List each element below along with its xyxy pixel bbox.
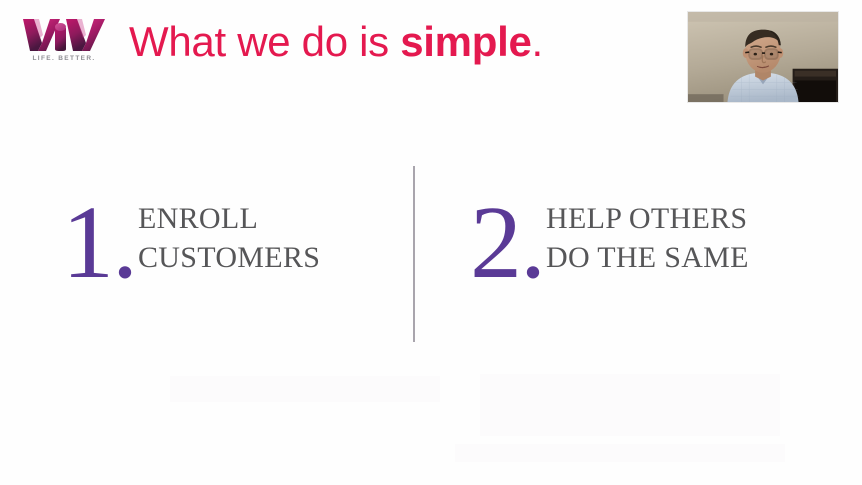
presenter-webcam-tile[interactable]	[687, 11, 839, 103]
step-item-1: 1. ENROLL CUSTOMERS	[62, 198, 320, 279]
headline-period: .	[532, 18, 543, 65]
step-1-number: 1.	[62, 202, 136, 283]
presentation-slide: LIFE. BETTER. What we do is simple.	[0, 0, 862, 485]
step-2-line-1: HELP OTHERS	[546, 200, 749, 238]
step-2-label: HELP OTHERS DO THE SAME	[546, 200, 749, 277]
step-1-line-2: CUSTOMERS	[138, 239, 320, 277]
step-1-line-1: ENROLL	[138, 200, 320, 238]
viv-wordmark-icon	[21, 16, 107, 54]
step-item-2: 2. HELP OTHERS DO THE SAME	[470, 198, 749, 279]
step-2-line-2: DO THE SAME	[546, 239, 749, 277]
compression-ghosting	[0, 372, 862, 485]
headline-bold-part: simple	[400, 18, 531, 65]
headline-normal-part: What we do is	[129, 18, 400, 65]
column-divider	[413, 166, 415, 342]
step-1-label: ENROLL CUSTOMERS	[138, 200, 320, 277]
webcam-video-frame	[688, 12, 838, 102]
viv-brand-logo: LIFE. BETTER.	[18, 16, 110, 74]
logo-tagline: LIFE. BETTER.	[32, 56, 95, 63]
steps-section: 1. ENROLL CUSTOMERS 2. HELP OTHERS DO TH…	[0, 160, 862, 350]
page-title: What we do is simple.	[129, 19, 543, 65]
step-2-number: 2.	[470, 202, 544, 283]
